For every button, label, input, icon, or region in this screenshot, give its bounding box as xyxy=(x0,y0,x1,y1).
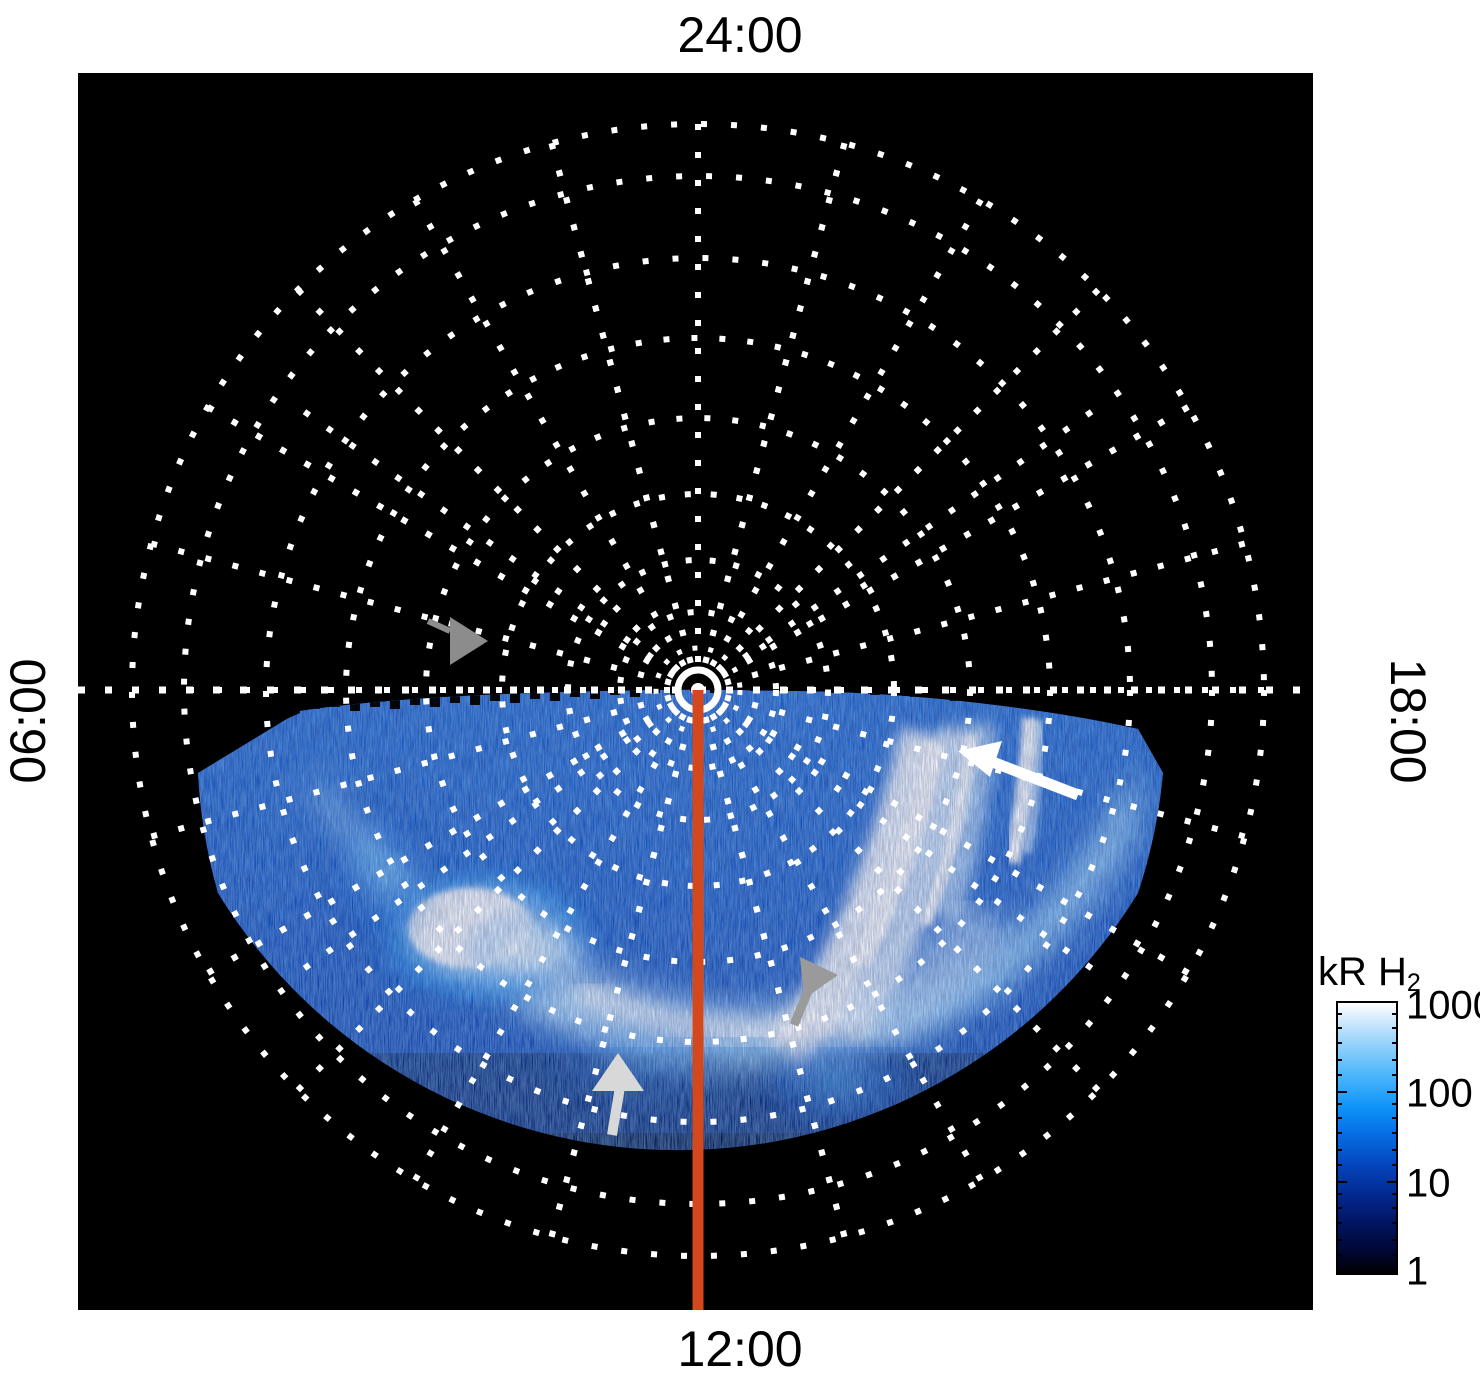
polar-plot-svg xyxy=(78,73,1313,1310)
gray-arrow-dawn-icon xyxy=(428,617,488,665)
colorbar-title-main: kR H xyxy=(1318,950,1407,994)
colorbar-label-10: 10 xyxy=(1406,1162,1451,1207)
colorbar: kR H2 xyxy=(1318,950,1480,1320)
colorbar-label-1000: 1000 xyxy=(1406,984,1480,1029)
colorbar-label-100: 100 xyxy=(1406,1072,1473,1117)
dial-label-dawn: 06:00 xyxy=(0,631,57,811)
polar-plot-area xyxy=(78,73,1313,1310)
dial-label-dusk: 18:00 xyxy=(1379,631,1437,811)
dial-label-noon: 12:00 xyxy=(0,1320,1480,1378)
colorbar-gradient xyxy=(1336,1001,1398,1275)
aurora-emission-data xyxy=(178,633,1198,1310)
colorbar-label-1: 1 xyxy=(1406,1250,1428,1295)
dial-label-midnight: 24:00 xyxy=(0,6,1480,64)
figure-root: 24:00 12:00 06:00 18:00 kR H2 xyxy=(0,0,1480,1384)
